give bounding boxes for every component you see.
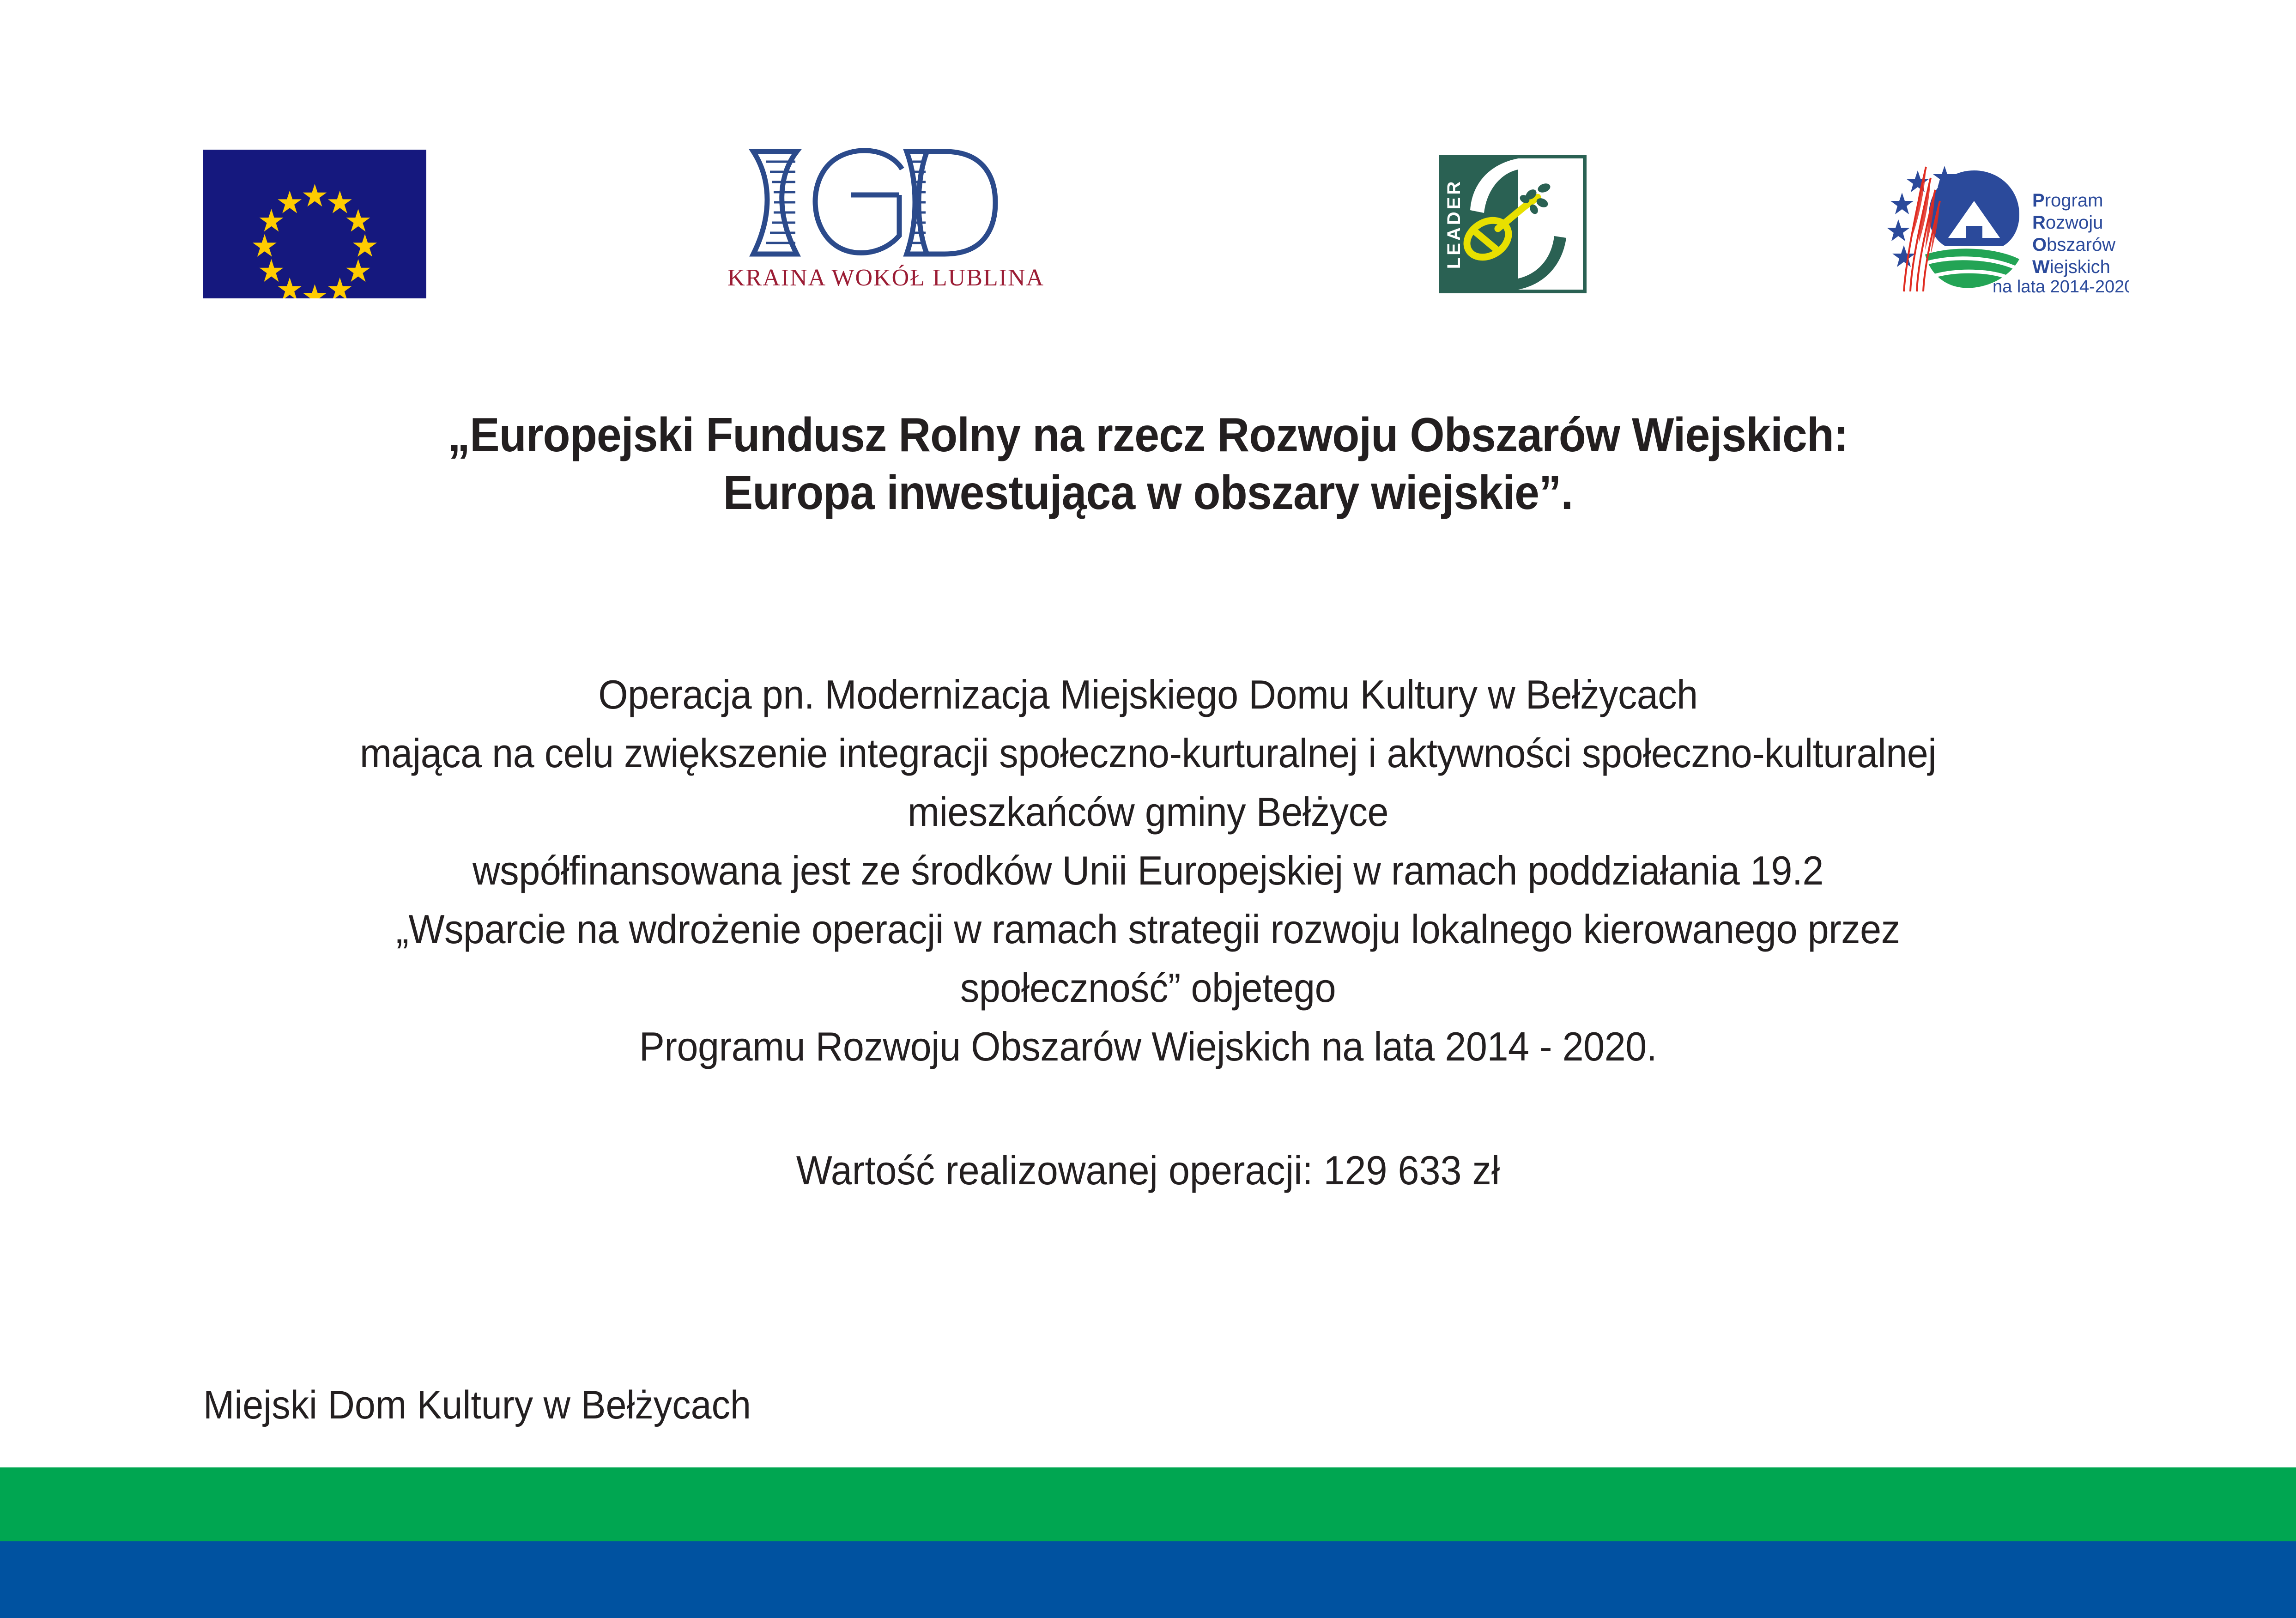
organisation-name: Miejski Dom Kultury w Bełżycach <box>203 1381 751 1430</box>
leader-label: LEADER <box>1444 179 1464 269</box>
heading-line-2: Europa inwestująca w obszary wiejskie”. <box>80 464 2216 522</box>
body-line-3: mieszkańców gminy Bełżyce <box>69 782 2227 841</box>
prow-line-1: Program <box>2032 190 2103 211</box>
body-line-6: społeczność” objetego <box>69 958 2227 1017</box>
body-line-5: „Wsparcie na wdrożenie operacji w ramach… <box>69 900 2227 958</box>
body-line-2: mająca na celu zwiększenie integracji sp… <box>69 724 2227 782</box>
body-line-7: Programu Rozwoju Obszarów Wiejskich na l… <box>69 1017 2227 1076</box>
prow-emblem-icon: Program Rozwoju Obszarów Wiejskich na la… <box>1861 150 2129 298</box>
prow-years: na lata 2014-2020 <box>1993 277 2129 297</box>
lgd-monogram-icon <box>727 143 1009 263</box>
prow-logo: Program Rozwoju Obszarów Wiejskich na la… <box>1861 150 2129 298</box>
prow-line-4: Wiejskich <box>2032 257 2110 277</box>
prow-line-3: Obszarów <box>2032 235 2115 255</box>
footer-bar-blue <box>0 1541 2296 1618</box>
body-line-1: Operacja pn. Modernizacja Miejskiego Dom… <box>69 665 2227 724</box>
eu-flag-logo <box>203 150 426 298</box>
operation-value: Wartość realizowanej operacji: 129 633 z… <box>0 1141 2296 1200</box>
footer-bar-green <box>0 1467 2296 1541</box>
body-line-4: współfinansowana jest ze środków Unii Eu… <box>69 841 2227 900</box>
logo-strip: KRAINA WOKÓŁ LUBLINA <box>0 0 2296 323</box>
operation-value-text: Wartość realizowanej operacji: 129 633 z… <box>69 1141 2227 1200</box>
prow-line-2: Rozwoju <box>2032 212 2103 233</box>
eu-stars-icon <box>203 150 426 298</box>
operation-description: Operacja pn. Modernizacja Miejskiego Dom… <box>0 665 2296 1076</box>
leader-logo: LEADER <box>1439 155 1587 293</box>
page-title: „Europejski Fundusz Rolny na rzecz Rozwo… <box>0 406 2296 522</box>
lgd-logo: KRAINA WOKÓŁ LUBLINA <box>727 143 1009 300</box>
heading-line-1: „Europejski Fundusz Rolny na rzecz Rozwo… <box>80 406 2216 464</box>
leader-emblem-icon: LEADER <box>1439 155 1587 293</box>
lgd-subtitle: KRAINA WOKÓŁ LUBLINA <box>727 264 1009 291</box>
